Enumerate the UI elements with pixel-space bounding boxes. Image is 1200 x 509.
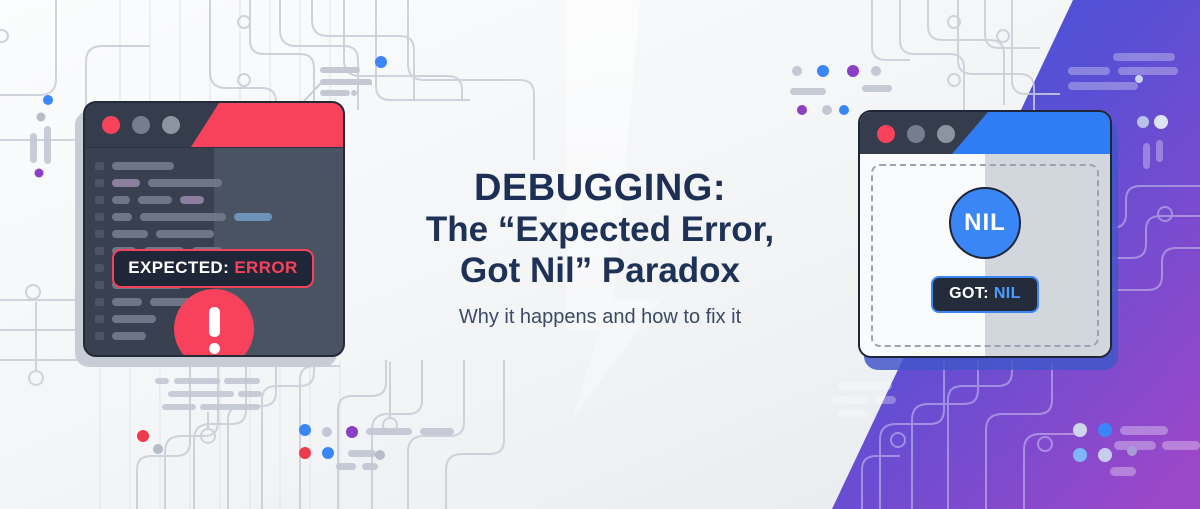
code-token — [156, 230, 214, 238]
code-token — [138, 196, 172, 204]
line-number-marker — [95, 332, 104, 340]
minimize-gray-icon[interactable] — [907, 125, 925, 143]
decor-dot — [1137, 116, 1149, 128]
decor-dot — [1127, 446, 1137, 456]
line-number-marker — [95, 315, 104, 323]
decor-dot — [299, 424, 311, 436]
titlebar-accent-red — [191, 103, 343, 147]
maximize-gray-icon[interactable] — [162, 116, 180, 134]
decor-dot — [1135, 75, 1143, 83]
code-token — [112, 196, 130, 204]
code-token — [140, 213, 226, 221]
nil-circle-label: NIL — [964, 209, 1006, 237]
line-number-marker — [95, 298, 104, 306]
code-token — [180, 196, 204, 204]
code-line — [95, 213, 343, 221]
traffic-lights[interactable] — [102, 116, 180, 134]
decor-dot — [847, 65, 859, 77]
decor-dot — [375, 450, 385, 460]
got-label: GOT: — [949, 285, 989, 302]
line-number-marker — [95, 162, 104, 170]
decor-dot — [1073, 448, 1087, 462]
line-number-marker — [95, 230, 104, 238]
decor-dot — [792, 66, 802, 76]
code-line — [95, 179, 343, 187]
line-number-marker — [95, 196, 104, 204]
expected-error-badge: EXPECTED: ERROR — [112, 249, 313, 288]
code-token — [112, 230, 148, 238]
line-number-marker — [95, 213, 104, 221]
decor-dot — [1154, 115, 1168, 129]
code-token — [112, 179, 140, 187]
nil-canvas-area: NIL GOT: NIL — [860, 154, 1110, 358]
expected-label: EXPECTED: — [128, 258, 229, 277]
minimize-gray-icon[interactable] — [132, 116, 150, 134]
code-line — [95, 230, 343, 238]
error-code-window[interactable]: EXPECTED: ERROR — [83, 101, 345, 357]
nil-circle-icon: NIL — [949, 187, 1021, 259]
decor-dot — [797, 105, 807, 115]
decor-dot — [43, 95, 53, 105]
decor-dot — [822, 105, 832, 115]
code-token — [234, 213, 272, 221]
code-line — [95, 196, 343, 204]
code-token — [112, 162, 174, 170]
decor-dot — [1073, 423, 1087, 437]
decor-dot — [346, 426, 358, 438]
decor-dot — [322, 427, 332, 437]
close-red-icon[interactable] — [877, 125, 895, 143]
window-titlebar — [860, 112, 1110, 154]
decor-dot — [322, 447, 334, 459]
decor-dot — [37, 113, 46, 122]
expected-value: ERROR — [234, 258, 297, 277]
line-number-marker — [95, 179, 104, 187]
decor-dot — [871, 66, 881, 76]
decor-dot — [1098, 448, 1112, 462]
close-red-icon[interactable] — [102, 116, 120, 134]
decor-dot — [1098, 423, 1112, 437]
traffic-lights[interactable] — [877, 125, 955, 143]
decor-dot — [35, 169, 44, 178]
poster-canvas: EXPECTED: ERROR NIL — [0, 0, 1200, 509]
code-token — [112, 332, 146, 340]
code-token — [112, 213, 132, 221]
decor-dot — [375, 56, 387, 68]
maximize-gray-icon[interactable] — [937, 125, 955, 143]
got-value: NIL — [994, 285, 1021, 302]
got-nil-badge: GOT: NIL — [931, 276, 1039, 313]
window-titlebar — [85, 103, 343, 148]
decor-dot — [839, 105, 849, 115]
code-token — [112, 315, 156, 323]
nil-result-window[interactable]: NIL GOT: NIL — [858, 110, 1112, 358]
decor-dot — [299, 447, 311, 459]
decor-dot — [153, 444, 163, 454]
code-line — [95, 162, 343, 170]
code-token — [148, 179, 222, 187]
decor-dot — [137, 430, 149, 442]
decor-dot — [817, 65, 829, 77]
titlebar-accent-blue — [952, 112, 1110, 154]
code-token — [112, 298, 142, 306]
